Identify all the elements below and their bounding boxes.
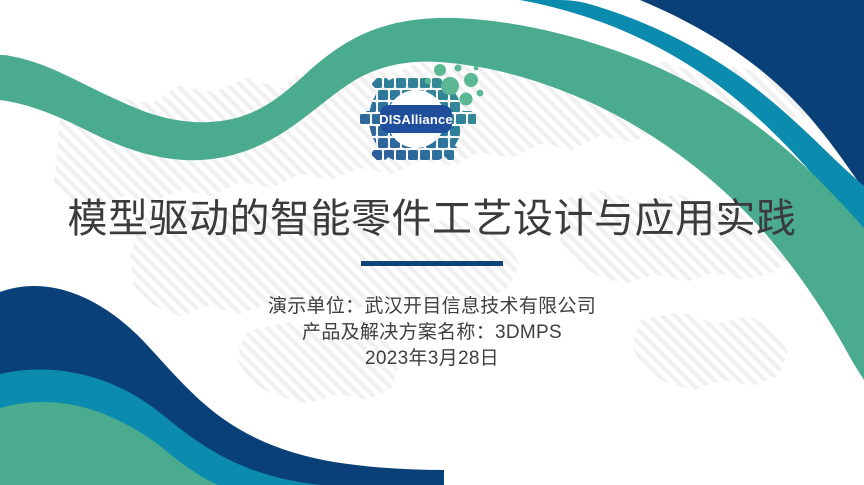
disalliance-logo: DISAlliance <box>352 62 498 174</box>
title-slide: DISAlliance 模型驱动的智能零件工艺设计与应用实践 演示单位：武汉开目… <box>0 0 864 485</box>
subtitle-date: 2023年3月28日 <box>0 346 864 372</box>
subtitle-block: 演示单位：武汉开目信息技术有限公司 产品及解决方案名称：3DMPS 2023年3… <box>0 294 864 372</box>
subtitle-presenter: 演示单位：武汉开目信息技术有限公司 <box>0 294 864 320</box>
subtitle-product: 产品及解决方案名称：3DMPS <box>0 320 864 346</box>
logo-badge-text: DISAlliance <box>379 112 453 127</box>
title-block: 模型驱动的智能零件工艺设计与应用实践 <box>0 196 864 266</box>
title-divider <box>361 261 503 266</box>
page-title: 模型驱动的智能零件工艺设计与应用实践 <box>0 196 864 243</box>
